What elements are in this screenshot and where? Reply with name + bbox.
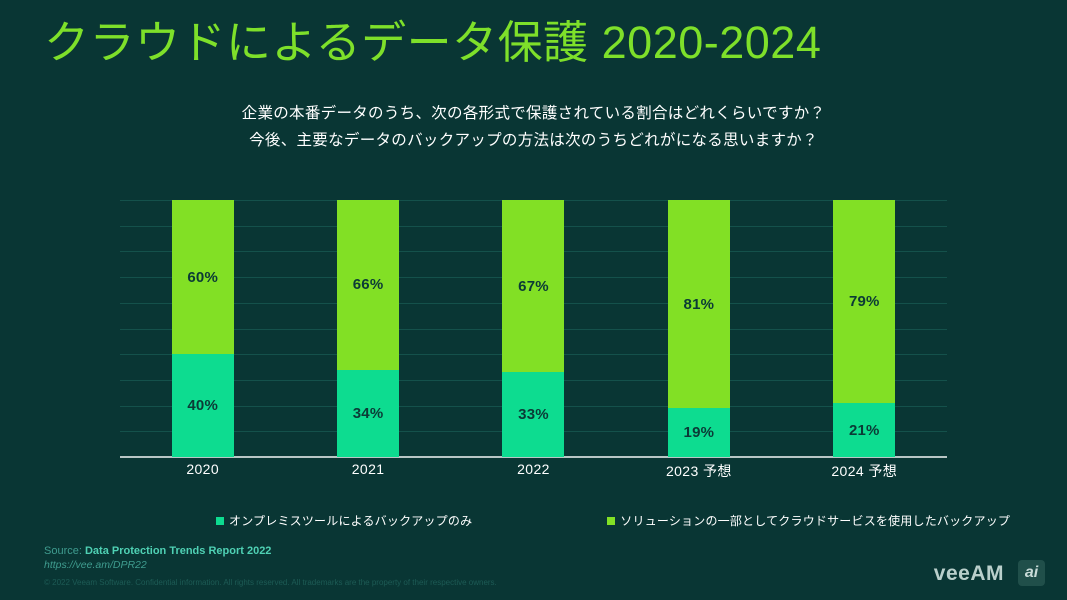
- footer: Source: Data Protection Trends Report 20…: [44, 544, 497, 588]
- partner-logo-icon: ai: [1018, 560, 1045, 586]
- legend-swatch-onprem-icon: [216, 517, 224, 525]
- stacked-bar[interactable]: 60%40%: [172, 200, 234, 457]
- stacked-bar-chart: 60%40%66%34%67%33%81%19%79%21%: [120, 200, 947, 457]
- copyright-text: © 2022 Veeam Software. Confidential info…: [44, 577, 497, 588]
- subtitle-line-1: 企業の本番データのうち、次の各形式で保護されている割合はどれくらいですか？: [0, 100, 1067, 127]
- bar-segment-onprem[interactable]: 21%: [833, 403, 895, 457]
- x-axis-tick-3: 2023 予想: [616, 461, 781, 481]
- bar-value-label-cloud: 60%: [187, 269, 218, 286]
- bar-value-label-cloud: 79%: [849, 293, 880, 310]
- stacked-bar[interactable]: 67%33%: [502, 200, 564, 457]
- chart-bars: 60%40%66%34%67%33%81%19%79%21%: [120, 200, 947, 457]
- bar-segment-cloud[interactable]: 81%: [668, 200, 730, 408]
- source-line: Source: Data Protection Trends Report 20…: [44, 544, 497, 558]
- bar-value-label-cloud: 81%: [684, 296, 715, 313]
- x-axis-tick-4: 2024 予想: [782, 461, 947, 481]
- veeam-logo: veeAM: [934, 563, 1004, 584]
- source-label: Source:: [44, 545, 82, 557]
- bar-group: 60%40%: [120, 200, 285, 457]
- bar-value-label-cloud: 67%: [518, 278, 549, 295]
- bar-group: 79%21%: [782, 200, 947, 457]
- chart-x-axis-labels: 2020202120222023 予想2024 予想: [120, 461, 947, 481]
- bar-value-label-onprem: 21%: [849, 422, 880, 439]
- bar-value-label-onprem: 40%: [187, 397, 218, 414]
- bar-value-label-cloud: 66%: [353, 276, 384, 293]
- bar-segment-onprem[interactable]: 40%: [172, 354, 234, 457]
- x-axis-tick-1: 2021: [285, 461, 450, 481]
- x-axis-tick-2: 2022: [451, 461, 616, 481]
- bar-segment-cloud[interactable]: 66%: [337, 200, 399, 370]
- source-title: Data Protection Trends Report 2022: [85, 545, 271, 557]
- subtitle-block: 企業の本番データのうち、次の各形式で保護されている割合はどれくらいですか？ 今後…: [0, 100, 1067, 154]
- bar-segment-cloud[interactable]: 79%: [833, 200, 895, 403]
- stacked-bar[interactable]: 79%21%: [833, 200, 895, 457]
- x-axis-tick-0: 2020: [120, 461, 285, 481]
- logo-group: veeAM ai: [934, 560, 1045, 586]
- legend-label-onprem: オンプレミスツールによるバックアップのみ: [229, 512, 472, 529]
- source-url[interactable]: https://vee.am/DPR22: [44, 558, 497, 572]
- legend-swatch-cloud-icon: [607, 517, 615, 525]
- chart-legend: オンプレミスツールによるバックアップのみ ソリューションの一部としてクラウドサー…: [120, 512, 947, 529]
- slide-root: クラウドによるデータ保護 2020-2024 企業の本番データのうち、次の各形式…: [0, 0, 1067, 600]
- bar-segment-onprem[interactable]: 19%: [668, 408, 730, 457]
- legend-item-onprem[interactable]: オンプレミスツールによるバックアップのみ: [216, 512, 472, 529]
- bar-value-label-onprem: 33%: [518, 406, 549, 423]
- bar-group: 66%34%: [285, 200, 450, 457]
- bar-value-label-onprem: 34%: [353, 405, 384, 422]
- bar-group: 81%19%: [616, 200, 781, 457]
- page-title: クラウドによるデータ保護 2020-2024: [44, 12, 821, 74]
- bar-value-label-onprem: 19%: [684, 424, 715, 441]
- legend-label-cloud: ソリューションの一部としてクラウドサービスを使用したバックアップ: [620, 512, 1010, 529]
- bar-segment-cloud[interactable]: 60%: [172, 200, 234, 354]
- bar-group: 67%33%: [451, 200, 616, 457]
- stacked-bar[interactable]: 66%34%: [337, 200, 399, 457]
- stacked-bar[interactable]: 81%19%: [668, 200, 730, 457]
- legend-item-cloud[interactable]: ソリューションの一部としてクラウドサービスを使用したバックアップ: [607, 512, 1010, 529]
- subtitle-line-2: 今後、主要なデータのバックアップの方法は次のうちどれがになる思いますか？: [0, 127, 1067, 154]
- bar-segment-cloud[interactable]: 67%: [502, 200, 564, 372]
- bar-segment-onprem[interactable]: 34%: [337, 370, 399, 457]
- bar-segment-onprem[interactable]: 33%: [502, 372, 564, 457]
